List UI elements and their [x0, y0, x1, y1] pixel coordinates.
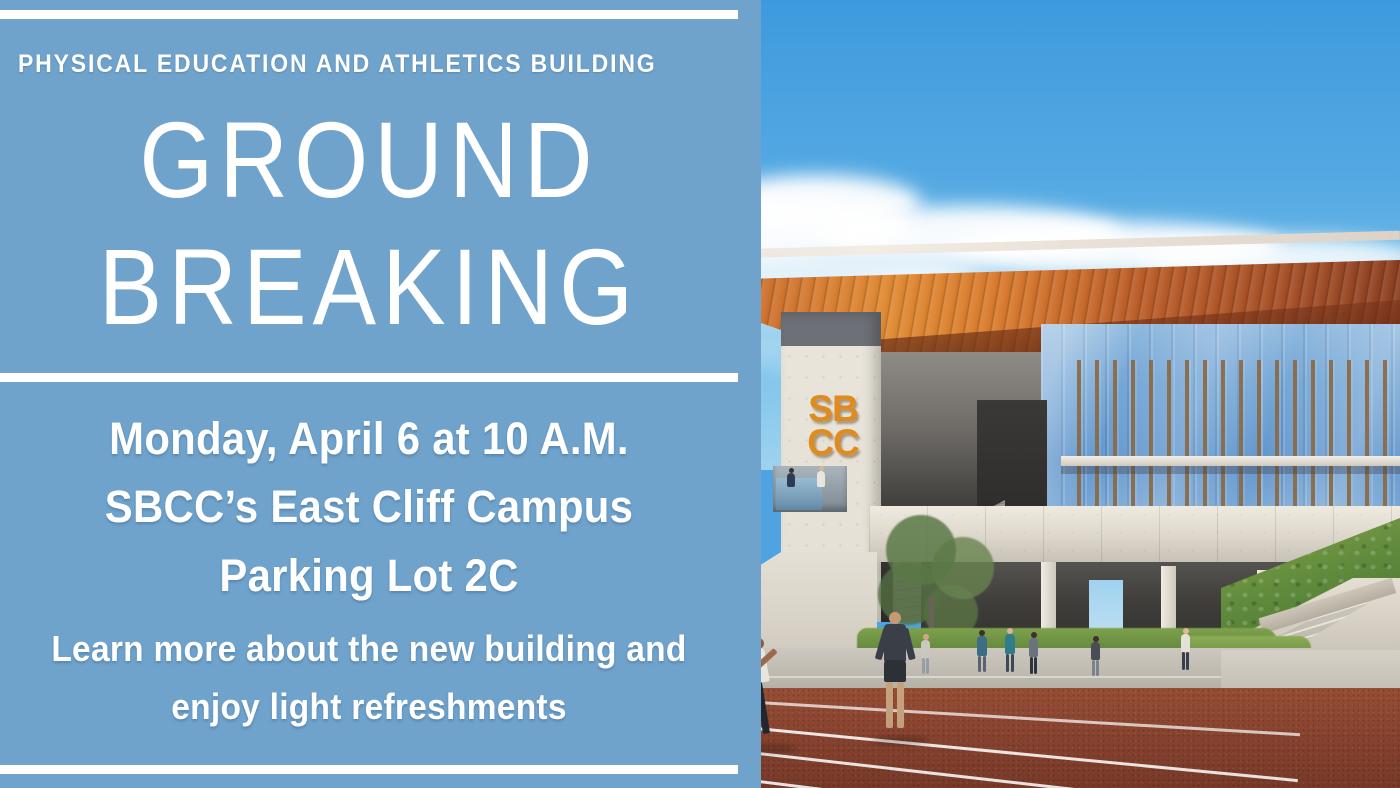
person-body	[1091, 642, 1100, 660]
person-leg	[1092, 660, 1095, 676]
person-leg	[1011, 654, 1014, 672]
person-leg	[922, 658, 925, 674]
person-leg	[1096, 660, 1099, 676]
person-leg	[1034, 657, 1037, 674]
sbcc-logo-line2: CC	[796, 426, 870, 460]
eyebrow-text: PHYSICAL EDUCATION AND ATHLETICS BUILDIN…	[18, 50, 680, 79]
event-location-line-1: SBCC’s East Cliff Campus	[26, 473, 712, 541]
person-leg	[897, 682, 904, 728]
person-body	[1029, 638, 1038, 657]
person-body	[921, 640, 930, 658]
person-body	[1005, 634, 1015, 654]
person-head	[889, 612, 901, 624]
headline-line-1: GROUND	[44, 96, 693, 223]
subtext-line-2: enjoy light refreshments	[26, 678, 712, 736]
balcony-railing	[1061, 466, 1400, 474]
person-leg	[978, 656, 981, 672]
divider-rule-bottom	[0, 765, 738, 774]
building-rendering-photo: SB CC	[761, 0, 1400, 788]
event-datetime: Monday, April 6 at 10 A.M.	[26, 405, 712, 473]
person-body	[1181, 634, 1190, 652]
person-leg	[886, 682, 893, 728]
balcony-deck	[1061, 456, 1400, 466]
sbcc-logo-line1: SB	[796, 392, 870, 426]
event-location-line-2: Parking Lot 2C	[26, 542, 712, 610]
person-body	[787, 473, 795, 487]
page-title: GROUND BREAKING	[44, 96, 693, 351]
event-details: Monday, April 6 at 10 A.M. SBCC’s East C…	[0, 405, 738, 610]
headline-line-2: BREAKING	[44, 223, 693, 350]
person-leg	[926, 658, 929, 674]
poster-canvas: SB CC	[0, 0, 1400, 788]
person-body	[817, 471, 825, 487]
balcony-glass-panel	[776, 478, 822, 510]
person-shadow	[871, 736, 929, 745]
person-leg	[1030, 657, 1033, 674]
person-shorts	[884, 660, 906, 682]
person-leg	[1182, 652, 1185, 670]
sbcc-logo: SB CC	[796, 392, 870, 461]
divider-rule-top	[0, 10, 738, 19]
person-leg	[983, 656, 986, 672]
person-leg	[1006, 654, 1009, 672]
divider-rule-middle	[0, 373, 738, 382]
subtext-line-1: Learn more about the new building and	[26, 620, 712, 678]
person-body	[977, 636, 987, 656]
person-leg	[1186, 652, 1189, 670]
photo-content: SB CC	[761, 0, 1400, 788]
event-subtext: Learn more about the new building and en…	[0, 620, 738, 737]
